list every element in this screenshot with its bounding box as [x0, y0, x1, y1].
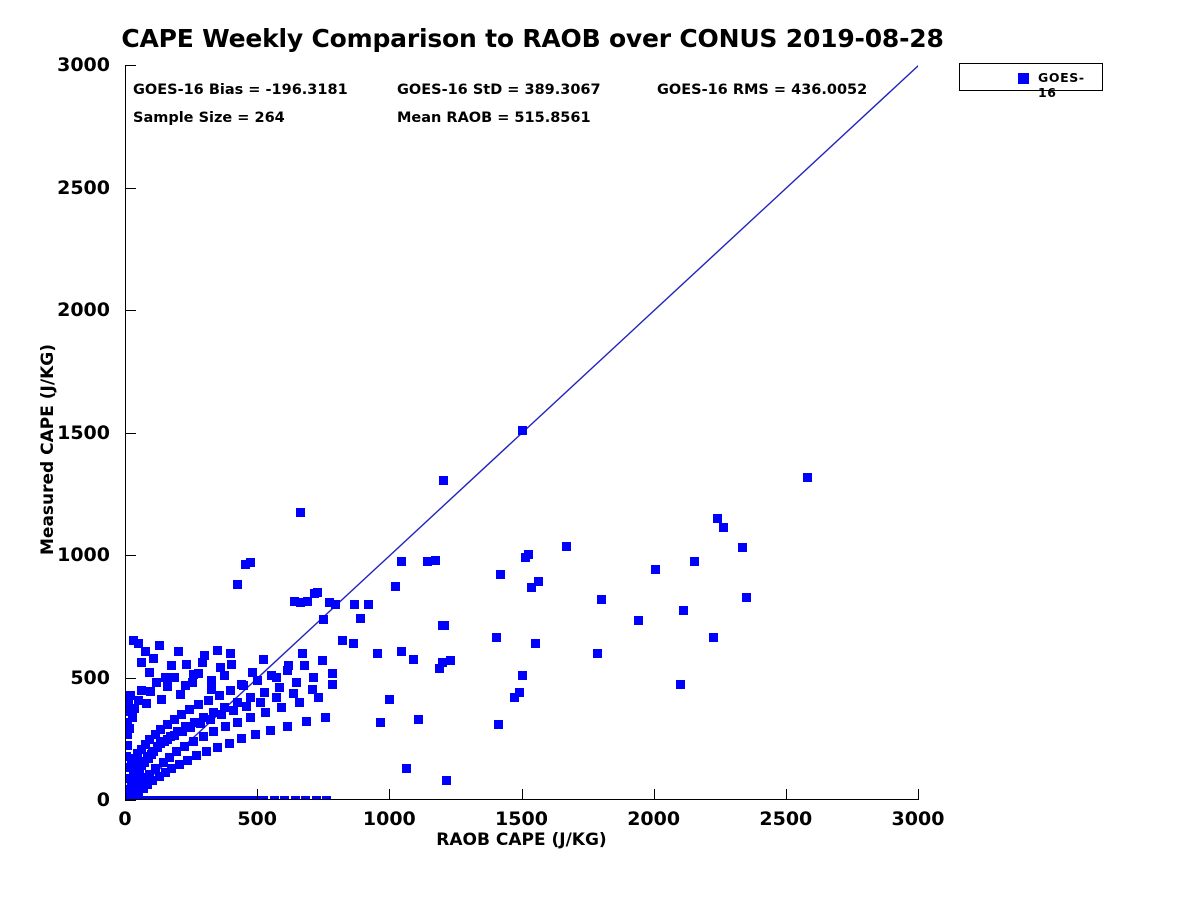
scatter-point: [331, 600, 340, 609]
scatter-point: [292, 678, 301, 687]
scatter-point: [237, 734, 246, 743]
x-tick-label: 3000: [858, 808, 978, 830]
scatter-point: [251, 730, 260, 739]
scatter-point: [518, 426, 527, 435]
scatter-point: [272, 673, 281, 682]
scatter-point: [253, 676, 262, 685]
scatter-point: [126, 699, 133, 708]
scatter-point: [204, 696, 213, 705]
scatter-point: [397, 647, 406, 656]
chart-page: CAPE Weekly Comparison to RAOB over CONU…: [0, 0, 1200, 900]
scatter-point: [270, 796, 279, 800]
y-tick-label: 500: [14, 667, 110, 689]
scatter-point: [402, 764, 411, 773]
scatter-point: [188, 678, 197, 687]
legend-label: GOES-16: [1038, 70, 1102, 100]
scatter-point: [220, 671, 229, 680]
scatter-point: [738, 543, 747, 552]
scatter-point: [226, 649, 235, 658]
scatter-point: [280, 796, 289, 800]
scatter-point: [300, 661, 309, 670]
scatter-point: [259, 796, 268, 800]
scatter-point: [277, 703, 286, 712]
y-tick: [125, 188, 136, 189]
x-tick: [786, 789, 787, 800]
scatter-point: [163, 682, 172, 691]
scatter-point: [190, 718, 199, 727]
x-tick-label: 1000: [329, 808, 449, 830]
scatter-point: [272, 693, 281, 702]
scatter-point: [152, 678, 161, 687]
page-title: CAPE Weekly Comparison to RAOB over CONU…: [0, 24, 1065, 53]
scatter-point: [229, 706, 238, 715]
scatter-point: [126, 718, 132, 727]
scatter-point: [199, 732, 208, 741]
scatter-point: [194, 700, 203, 709]
scatter-point: [142, 699, 151, 708]
scatter-point: [248, 668, 257, 677]
scatter-point: [209, 708, 218, 717]
scatter-point: [275, 683, 284, 692]
scatter-point: [182, 660, 191, 669]
scatter-point: [242, 702, 251, 711]
scatter-point: [283, 722, 292, 731]
scatter-point: [246, 693, 255, 702]
x-tick-label: 500: [197, 808, 317, 830]
scatter-point: [414, 715, 423, 724]
x-tick: [257, 789, 258, 800]
scatter-point: [226, 686, 235, 695]
scatter-point: [385, 695, 394, 704]
scatter-point: [651, 565, 660, 574]
scatter-point: [319, 615, 328, 624]
scatter-point: [515, 688, 524, 697]
scatter-point: [213, 743, 222, 752]
scatter-point: [322, 796, 331, 800]
scatter-point: [298, 649, 307, 658]
stat-mean-raob: Mean RAOB = 515.8561: [397, 110, 591, 126]
scatter-point: [562, 542, 571, 551]
y-axis-title: Measured CAPE (J/KG): [38, 344, 58, 555]
scatter-point: [227, 660, 236, 669]
scatter-point: [145, 668, 154, 677]
scatter-point: [318, 656, 327, 665]
scatter-point: [207, 676, 216, 685]
scatter-point: [220, 703, 229, 712]
scatter-point: [338, 636, 347, 645]
scatter-point: [439, 476, 448, 485]
scatter-point: [194, 669, 203, 678]
scatter-point: [364, 600, 373, 609]
scatter-point: [189, 737, 198, 746]
y-tick: [125, 310, 136, 311]
scatter-point: [259, 655, 268, 664]
scatter-point: [309, 673, 318, 682]
scatter-point: [233, 580, 242, 589]
scatter-point: [321, 713, 330, 722]
scatter-point: [180, 742, 189, 751]
scatter-point: [356, 614, 365, 623]
scatter-point: [209, 727, 218, 736]
x-tick-label: 1500: [462, 808, 582, 830]
y-tick: [125, 678, 136, 679]
scatter-point: [524, 550, 533, 559]
scatter-point: [183, 756, 192, 765]
scatter-point: [296, 508, 305, 517]
scatter-point: [266, 726, 275, 735]
x-tick: [654, 789, 655, 800]
x-tick-label: 2000: [594, 808, 714, 830]
scatter-point: [137, 686, 146, 695]
scatter-point: [397, 557, 406, 566]
scatter-point: [314, 693, 323, 702]
scatter-point: [709, 633, 718, 642]
scatter-point: [199, 713, 208, 722]
scatter-point: [185, 705, 194, 714]
scatter-point: [215, 691, 224, 700]
scatter-point: [492, 633, 501, 642]
scatter-point: [126, 785, 131, 794]
x-tick: [125, 789, 126, 800]
x-tick: [522, 789, 523, 800]
scatter-point: [534, 577, 543, 586]
y-tick-label: 3000: [14, 54, 110, 76]
plot-area: [126, 65, 918, 799]
scatter-point: [679, 606, 688, 615]
stat-bias: GOES-16 Bias = -196.3181: [133, 82, 348, 98]
scatter-point: [260, 688, 269, 697]
x-tick-label: 0: [65, 808, 185, 830]
scatter-point: [496, 570, 505, 579]
legend-marker-icon: [1018, 73, 1029, 84]
scatter-point: [494, 720, 503, 729]
scatter-point: [593, 649, 602, 658]
scatter-point: [391, 582, 400, 591]
scatter-point: [289, 689, 298, 698]
scatter-point: [233, 698, 242, 707]
y-tick: [125, 65, 136, 66]
scatter-point: [284, 661, 293, 670]
scatter-point: [301, 796, 310, 800]
scatter-point: [246, 713, 255, 722]
scatter-point: [126, 730, 132, 739]
scatter-point: [376, 718, 385, 727]
stat-rms: GOES-16 RMS = 436.0052: [657, 82, 867, 98]
scatter-point: [742, 593, 751, 602]
y-tick-label: 1000: [14, 544, 110, 566]
scatter-point: [312, 796, 321, 800]
scatter-point: [200, 651, 209, 660]
scatter-point: [221, 722, 230, 731]
scatter-point: [225, 739, 234, 748]
x-tick: [918, 789, 919, 800]
scatter-point: [126, 763, 131, 772]
scatter-point: [518, 671, 527, 680]
scatter-point: [713, 514, 722, 523]
x-tick: [389, 789, 390, 800]
scatter-point: [302, 717, 311, 726]
scatter-point: [174, 647, 183, 656]
scatter-point: [170, 673, 179, 682]
y-tick-label: 2500: [14, 177, 110, 199]
scatter-point: [126, 691, 135, 700]
scatter-point: [261, 708, 270, 717]
scatter-point: [442, 776, 451, 785]
y-tick: [125, 433, 136, 434]
scatter-point: [291, 796, 300, 800]
scatter-point: [149, 654, 158, 663]
scatter-point: [531, 639, 540, 648]
scatter-point: [192, 751, 201, 760]
stat-std: GOES-16 StD = 389.3067: [397, 82, 601, 98]
scatter-point: [313, 588, 322, 597]
scatter-point: [409, 655, 418, 664]
scatter-point: [634, 616, 643, 625]
plot-frame: [125, 65, 918, 800]
scatter-point: [803, 473, 812, 482]
y-tick: [125, 555, 136, 556]
scatter-point: [676, 680, 685, 689]
scatter-point: [146, 687, 155, 696]
scatter-point: [202, 747, 211, 756]
scatter-point: [719, 523, 728, 532]
scatter-point: [597, 595, 606, 604]
y-tick: [125, 800, 136, 801]
scatter-point: [295, 698, 304, 707]
scatter-point: [446, 656, 455, 665]
scatter-point: [126, 741, 132, 750]
scatter-point: [161, 673, 170, 682]
y-tick-label: 1500: [14, 422, 110, 444]
scatter-point: [431, 556, 440, 565]
scatter-point: [137, 658, 146, 667]
scatter-point: [373, 649, 382, 658]
x-tick-label: 2500: [726, 808, 846, 830]
stat-sample-size: Sample Size = 264: [133, 110, 285, 126]
scatter-point: [155, 641, 164, 650]
scatter-point: [237, 680, 246, 689]
scatter-point: [438, 621, 447, 630]
scatter-point: [126, 774, 131, 783]
x-axis-title: RAOB CAPE (J/KG): [125, 830, 918, 850]
scatter-point: [207, 685, 216, 694]
scatter-point: [328, 680, 337, 689]
scatter-point: [349, 639, 358, 648]
scatter-point: [233, 718, 242, 727]
scatter-point: [350, 600, 359, 609]
scatter-point: [213, 646, 222, 655]
scatter-point: [176, 690, 185, 699]
scatter-point: [157, 695, 166, 704]
scatter-point: [256, 698, 265, 707]
legend[interactable]: GOES-16: [959, 63, 1103, 91]
scatter-point: [167, 661, 176, 670]
scatter-point: [690, 557, 699, 566]
scatter-point: [328, 669, 337, 678]
scatter-point: [246, 558, 255, 567]
scatter-point: [126, 752, 131, 761]
scatter-point: [141, 647, 150, 656]
y-tick-label: 2000: [14, 299, 110, 321]
